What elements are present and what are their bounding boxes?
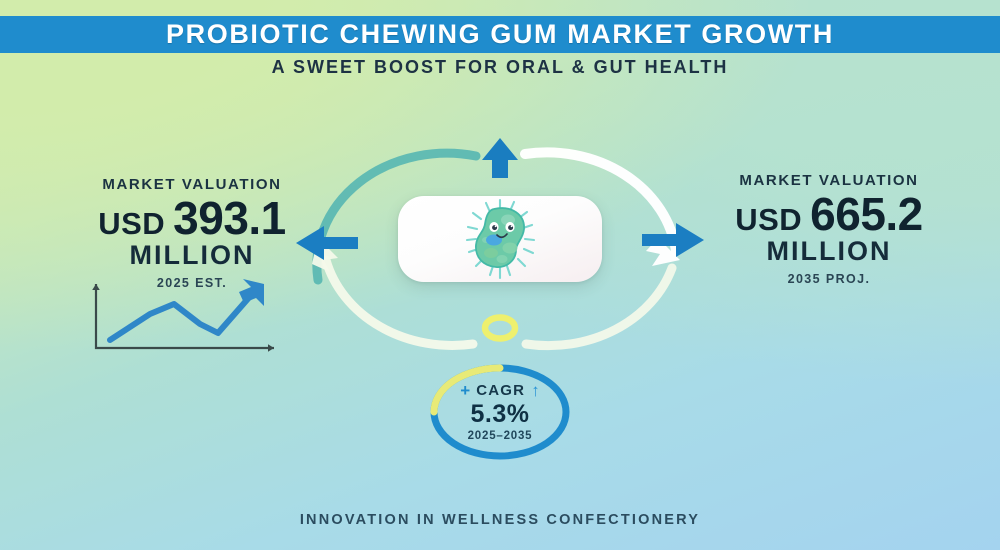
valuation-left-currency: USD — [98, 206, 165, 242]
cagr-period: 2025–2035 — [468, 430, 533, 442]
valuation-right-amount: USD 665.2 — [684, 193, 974, 238]
page-subtitle: A SWEET BOOST FOR ORAL & GUT HEALTH — [0, 57, 1000, 78]
valuation-right-unit: MILLION — [684, 236, 974, 267]
cagr-plus-icon: + — [460, 382, 470, 399]
yellow-ring-icon — [485, 318, 515, 339]
footer-tagline: INNOVATION IN WELLNESS CONFECTIONERY — [0, 512, 1000, 528]
valuation-block-right: MARKET VALUATION USD 665.2 MILLION 2035 … — [684, 172, 974, 286]
infographic-canvas: PROBIOTIC CHEWING GUM MARKET GROWTH A SW… — [0, 0, 1000, 550]
valuation-right-value: 665.2 — [810, 193, 923, 237]
probiotic-bacterium-icon — [450, 196, 550, 284]
cagr-up-arrow-icon: ↑ — [531, 382, 540, 399]
up-arrow-icon — [482, 138, 518, 178]
cagr-label: CAGR — [476, 382, 525, 399]
valuation-right-label: MARKET VALUATION — [684, 172, 974, 189]
title-banner: PROBIOTIC CHEWING GUM MARKET GROWTH — [0, 16, 1000, 53]
cagr-content: + CAGR ↑ 5.3% 2025–2035 — [420, 358, 580, 466]
market-trend-chart — [78, 276, 288, 366]
chart-trend-line — [110, 293, 253, 340]
page-title: PROBIOTIC CHEWING GUM MARKET GROWTH — [166, 19, 834, 50]
valuation-right-note: 2035 PROJ. — [684, 272, 974, 286]
valuation-right-currency: USD — [735, 202, 802, 238]
valuation-left-value: 393.1 — [173, 197, 286, 241]
cagr-value: 5.3% — [471, 400, 530, 429]
cagr-label-row: + CAGR ↑ — [460, 382, 539, 399]
